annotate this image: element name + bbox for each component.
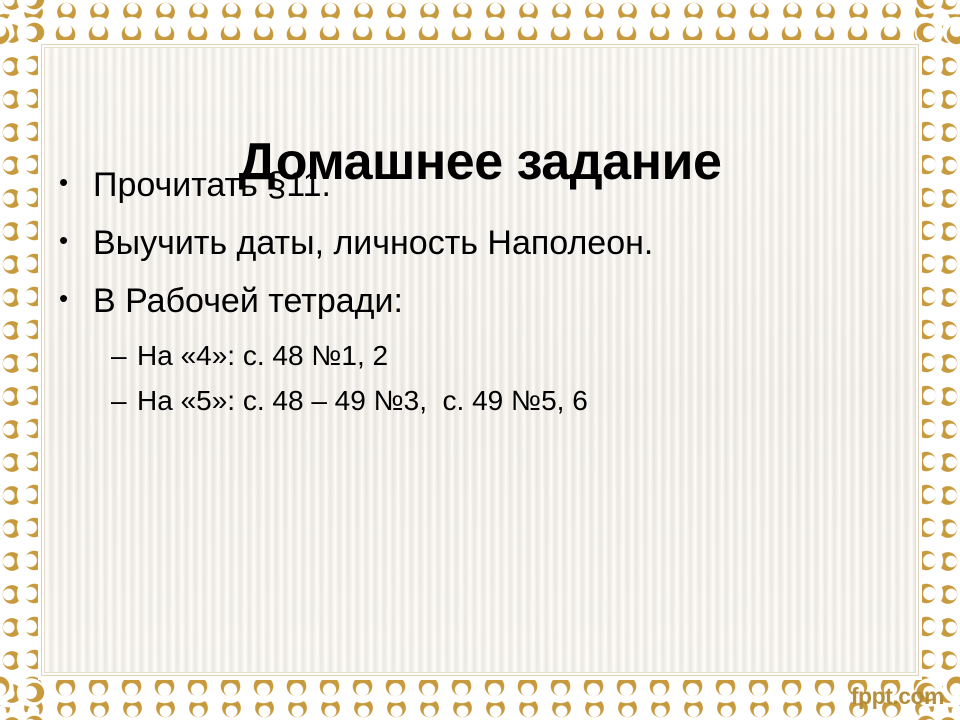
frame-rings-right-inner: [912, 0, 946, 720]
list-item-label: Выучить даты, личность Наполеон.: [93, 226, 895, 260]
frame-rings-left-outer: [0, 0, 25, 720]
sub-list-item-label: На «5»: с. 48 – 49 №3, с. 49 №5, 6: [137, 387, 895, 415]
sub-list-item-label: На «4»: с. 48 №1, 2: [137, 342, 895, 370]
bullet-dash-icon: –: [111, 342, 137, 370]
list-item-label: В Рабочей тетради:: [93, 284, 895, 318]
list-item: • Прочитать §11.: [59, 168, 895, 202]
sub-list-item: – На «5»: с. 48 – 49 №3, с. 49 №5, 6: [111, 387, 895, 415]
bullet-dash-icon: –: [111, 387, 137, 415]
sub-list-item: – На «4»: с. 48 №1, 2: [111, 342, 895, 370]
list-item-label: Прочитать §11.: [93, 168, 895, 202]
list-item: • В Рабочей тетради:: [59, 284, 895, 318]
bullet-dot-icon: •: [59, 168, 93, 197]
slide-content-panel: Домашнее задание • Прочитать §11. • Выуч…: [45, 48, 915, 672]
frame-rings-left-inner: [14, 0, 48, 720]
bullet-dot-icon: •: [59, 226, 93, 255]
bullet-dot-icon: •: [59, 284, 93, 313]
slide-canvas: Домашнее задание • Прочитать §11. • Выуч…: [0, 0, 960, 720]
frame-rings-right-outer: [935, 0, 960, 720]
frame-rings-bottom-inner: [0, 672, 960, 706]
frame-rings-bottom-outer: [0, 695, 960, 720]
homework-list: • Прочитать §11. • Выучить даты, личност…: [59, 168, 895, 432]
frame-rings-top-outer: [0, 0, 960, 25]
frame-rings-top-inner: [0, 14, 960, 48]
watermark-label: fppt.com: [851, 683, 944, 710]
list-item: • Выучить даты, личность Наполеон.: [59, 226, 895, 260]
